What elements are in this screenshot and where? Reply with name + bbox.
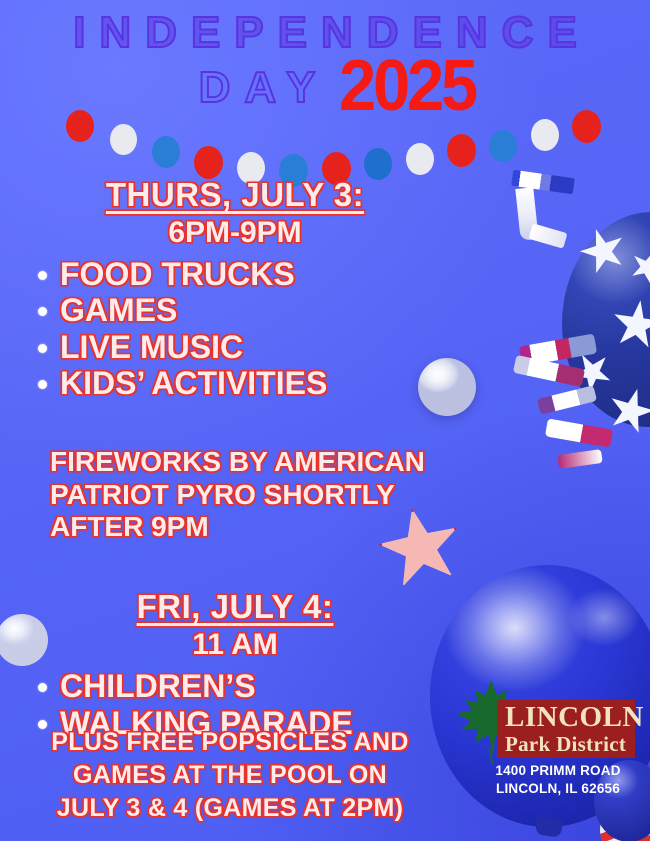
red-white-ribbon-curl	[513, 355, 585, 387]
flyer-content: THURS, JULY 3: 6PM-9PM FOOD TRUCKSGAMESL…	[0, 176, 470, 741]
garland-dot	[531, 119, 559, 151]
footer-block: PLUS FREE POPSICLES AND GAMES AT THE POO…	[0, 726, 460, 825]
garland-dot	[572, 110, 601, 143]
fireworks-line: PATRIOT PYRO SHORTLY	[0, 479, 470, 512]
list-item: GAMES	[38, 292, 470, 328]
friday-heading: FRI, JULY 4:	[0, 588, 470, 626]
red-white-ribbon-curl	[557, 449, 603, 469]
fireworks-line: FIREWORKS BY AMERICAN	[0, 446, 470, 479]
dot-garland	[0, 105, 650, 169]
list-item: KIDS’ ACTIVITIES	[38, 365, 470, 401]
flyer-title: INDEPENDENCE DAY 2025	[0, 10, 650, 111]
star-icon	[574, 222, 632, 280]
independence-day-flyer: INDEPENDENCE DAY 2025 THURS, JULY 3: 6PM…	[0, 0, 650, 841]
address-line-city: LINCOLN, IL 62656	[481, 780, 635, 798]
footer-line: GAMES AT THE POOL ON	[0, 759, 460, 792]
thursday-time: 6PM-9PM	[0, 216, 470, 250]
garland-dot	[489, 130, 517, 162]
title-row-day-year: DAY 2025	[0, 60, 650, 111]
star-icon	[625, 245, 650, 290]
logo-name-lincoln: LINCOLN	[505, 703, 635, 732]
address-line-street: 1400 PRIMM ROAD	[481, 762, 635, 780]
logo-nameplate: LINCOLN Park District	[497, 700, 635, 758]
star-icon	[603, 383, 650, 440]
logo-address: 1400 PRIMM ROAD LINCOLN, IL 62656	[481, 762, 635, 798]
flag-striped-balloon	[600, 800, 650, 841]
blue-ribbon-streamer	[511, 170, 575, 194]
balloon-knot	[535, 816, 563, 837]
friday-time: 11 AM	[0, 628, 470, 662]
red-white-ribbon-curl	[545, 418, 613, 447]
lincoln-park-district-logo: LINCOLN Park District 1400 PRIMM ROAD LI…	[455, 678, 635, 798]
star-icon	[565, 345, 620, 400]
title-line-independence: INDEPENDENCE	[0, 10, 650, 56]
white-ribbon-tail	[528, 223, 567, 248]
footer-line: JULY 3 & 4 (GAMES AT 2PM)	[0, 792, 460, 825]
star-spangled-balloon	[562, 212, 650, 427]
garland-dot	[110, 124, 137, 155]
thursday-activity-list: FOOD TRUCKSGAMESLIVE MUSICKIDS’ ACTIVITI…	[0, 256, 470, 402]
red-white-ribbon-curl	[537, 385, 597, 415]
garland-dot	[152, 136, 180, 168]
list-item: LIVE MUSIC	[38, 329, 470, 365]
garland-dot	[447, 134, 476, 167]
friday-block: FRI, JULY 4: 11 AM CHILDREN’SWALKING PAR…	[0, 588, 470, 741]
list-item: FOOD TRUCKS	[38, 256, 470, 292]
thursday-heading: THURS, JULY 3:	[0, 176, 470, 214]
fireworks-block: FIREWORKS BY AMERICAN PATRIOT PYRO SHORT…	[0, 446, 470, 544]
star-icon	[609, 297, 650, 353]
garland-dot	[406, 143, 434, 175]
logo-name-park-district: Park District	[505, 733, 635, 755]
red-white-ribbon-curl	[519, 334, 597, 367]
garland-dot	[194, 146, 223, 179]
list-item: CHILDREN’S	[38, 668, 470, 704]
footer-line: PLUS FREE POPSICLES AND	[0, 726, 460, 759]
garland-dot	[66, 110, 94, 142]
fireworks-line: AFTER 9PM	[0, 511, 470, 544]
thursday-block: THURS, JULY 3: 6PM-9PM FOOD TRUCKSGAMESL…	[0, 176, 470, 402]
white-ribbon-curl	[515, 187, 538, 241]
